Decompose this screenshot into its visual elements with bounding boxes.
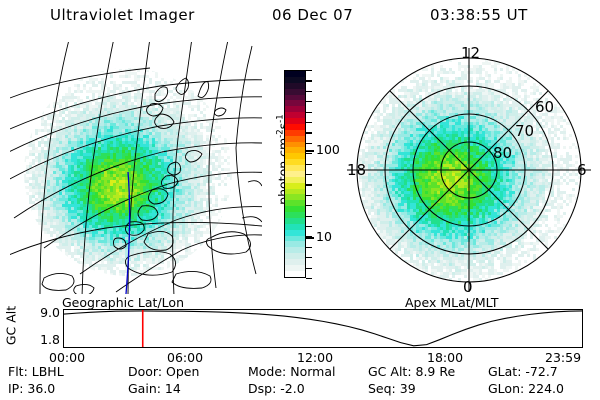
mlat-label-70: 70 xyxy=(515,122,534,140)
colorbar-major-tick-1 xyxy=(306,237,314,239)
magnetic-image-panel: 12 6 0 18 60 70 80 xyxy=(343,42,595,294)
orbit-xtick-1800: 18:00 xyxy=(427,350,463,365)
status-flt: Flt: LBHL xyxy=(8,364,64,379)
colorbar-gradient xyxy=(284,70,306,278)
colorbar-band-34 xyxy=(285,271,305,277)
status-gc-alt: GC Alt: 8.9 Re xyxy=(368,364,455,379)
mlat-label-60: 60 xyxy=(535,98,554,116)
orbit-y-axis-label: GC Alt xyxy=(4,302,19,350)
colorbar-minor-tick xyxy=(306,226,312,227)
status-seq: Seq: 39 xyxy=(368,381,416,396)
mlt-label-6: 6 xyxy=(577,161,587,179)
colorbar-minor-tick xyxy=(306,80,312,81)
colorbar-minor-tick xyxy=(306,257,312,258)
colorbar-tick-label-100: 100 xyxy=(316,142,340,157)
status-dsp: Dsp: -2.0 xyxy=(248,381,305,396)
colorbar-minor-tick xyxy=(306,216,312,217)
orbit-plot-area[interactable] xyxy=(63,309,583,348)
orbit-xtick-1200: 12:00 xyxy=(297,350,333,365)
geographic-image-panel xyxy=(10,42,262,294)
instrument-title: Ultraviolet Imager xyxy=(50,6,195,24)
colorbar-group: photon cm-2s-1 10010 xyxy=(264,60,342,290)
status-mode: Mode: Normal xyxy=(248,364,335,379)
uvi-display: Ultraviolet Imager 06 Dec 07 03:38:55 UT xyxy=(0,0,600,400)
colorbar-ticks xyxy=(306,70,314,278)
mlt-label-0: 0 xyxy=(463,278,473,294)
colorbar-minor-tick xyxy=(306,174,312,175)
colorbar-minor-tick xyxy=(306,112,312,113)
colorbar-minor-tick xyxy=(306,101,312,102)
mlat-label-80: 80 xyxy=(493,144,512,162)
status-ip: IP: 36.0 xyxy=(8,381,55,396)
colorbar-minor-tick xyxy=(306,122,312,123)
mlt-label-12: 12 xyxy=(461,44,480,62)
colorbar-minor-tick xyxy=(306,153,312,154)
observation-time: 03:38:55 UT xyxy=(430,6,528,24)
colorbar-minor-tick xyxy=(306,195,312,196)
observation-date: 06 Dec 07 xyxy=(272,6,353,24)
orbit-altitude-chart: GC Alt 9.0 1.8 00:0006:0012:0018:0023:59 xyxy=(0,300,600,360)
orbit-xtick-0000: 00:00 xyxy=(49,350,85,365)
colorbar-tick-label-10: 10 xyxy=(316,229,332,244)
status-footer: Flt: LBHLDoor: OpenMode: NormalGC Alt: 8… xyxy=(0,364,600,400)
colorbar-minor-tick xyxy=(306,164,312,165)
orbit-xtick-0600: 06:00 xyxy=(167,350,203,365)
colorbar-minor-tick xyxy=(306,91,312,92)
colorbar-minor-tick xyxy=(306,268,312,269)
header-bar: Ultraviolet Imager 06 Dec 07 03:38:55 UT xyxy=(0,6,600,32)
orbit-altitude-trace xyxy=(64,311,582,346)
orbit-ytick-top: 9.0 xyxy=(26,305,60,320)
status-glon: GLon: 224.0 xyxy=(488,381,564,396)
status-gain: Gain: 14 xyxy=(128,381,181,396)
status-door: Door: Open xyxy=(128,364,199,379)
colorbar-minor-tick xyxy=(306,247,312,248)
colorbar-major-tick-0 xyxy=(306,150,314,152)
colorbar-minor-tick xyxy=(306,205,312,206)
colorbar-minor-tick xyxy=(306,184,312,185)
colorbar-minor-tick xyxy=(306,132,312,133)
mlt-spokes xyxy=(347,48,591,292)
orbit-xtick-2359: 23:59 xyxy=(545,350,581,365)
colorbar-minor-tick xyxy=(306,70,312,71)
mlt-label-18: 18 xyxy=(347,161,366,179)
status-glat: GLat: -72.7 xyxy=(488,364,558,379)
orbit-ytick-bottom: 1.8 xyxy=(26,332,60,347)
colorbar-minor-tick xyxy=(306,143,312,144)
colorbar-minor-tick xyxy=(306,278,312,279)
